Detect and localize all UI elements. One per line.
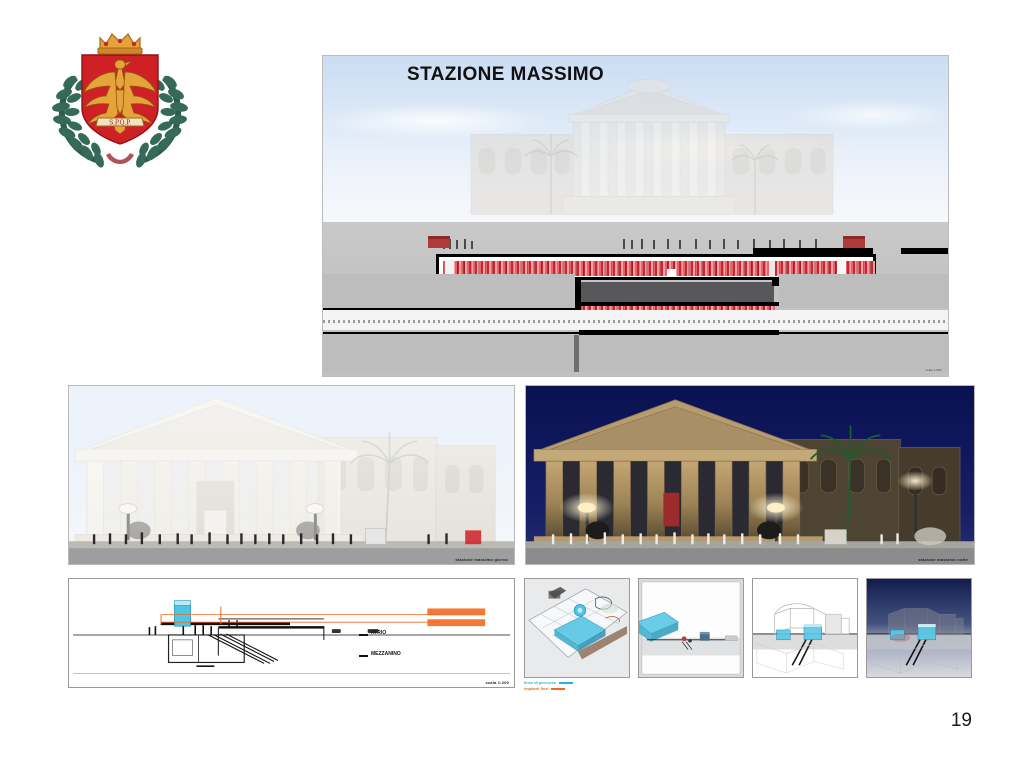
- montage-longitudinal-section: scala 1:500 STAZIONE MASSIMO: [322, 55, 949, 377]
- view-3d-2-graphic: [639, 579, 743, 677]
- view-3d-axonometric-detail: [638, 578, 744, 678]
- legend-swatch-0: [559, 682, 573, 684]
- view-3d-scheme-day: stazione spaziale giorno: [752, 578, 858, 678]
- slab-structure: [579, 282, 774, 304]
- view-3d-4-graphic: [867, 579, 971, 677]
- render-day-graphic: [69, 386, 514, 564]
- legend-label-1: impianti fissi: [524, 686, 548, 692]
- shaft-wall-right: [772, 280, 779, 286]
- ground-mass-left: [323, 274, 575, 308]
- track-dash: [323, 320, 948, 323]
- legend-swatch-1: [551, 688, 565, 690]
- montage-title: STAZIONE MASSIMO: [407, 64, 604, 86]
- render-day-caption: stazione massimo giorno: [455, 557, 508, 562]
- page-number: 19: [951, 710, 972, 732]
- view-3d-axonometric-overview: [524, 578, 630, 678]
- render-night: stazione massimo notte: [525, 385, 975, 565]
- views-3d-legend: linee di percorso impianti fissi: [524, 680, 630, 692]
- sub-mass-right: [579, 335, 948, 372]
- level-label-atrio: ATRIO: [371, 630, 386, 636]
- platform-ceiling: [579, 302, 779, 306]
- track-line-3: [779, 332, 948, 334]
- render-day: stazione massimo giorno: [68, 385, 515, 565]
- view-3d-1-graphic: [525, 579, 629, 677]
- view-3d-scheme-night: stazione massimo notte: [866, 578, 972, 678]
- technical-drawing-graphic: [69, 579, 514, 687]
- legend-row-1: impianti fissi: [524, 686, 630, 692]
- sub-mass-left: [323, 335, 575, 372]
- palermo-coat-of-arms-icon: S.P.Q.P.: [40, 22, 200, 182]
- level-label-mezzanino: MEZZANINO: [371, 651, 401, 657]
- view-3d-3-graphic: [753, 579, 857, 677]
- section-band-top-2: [901, 248, 949, 254]
- technical-drawing-scale-note: scala 1:200: [485, 680, 509, 685]
- level-tick-atrio: [359, 634, 368, 636]
- ground-mass-right: [779, 274, 948, 308]
- render-night-graphic: [526, 386, 974, 564]
- section-overlay: scala 1:500: [323, 216, 948, 376]
- render-night-caption: stazione massimo notte: [918, 557, 968, 562]
- montage-scale-note: scala 1:500: [926, 368, 942, 372]
- slide-canvas: S.P.Q.P.: [0, 0, 1024, 768]
- svg-text:S.P.Q.P.: S.P.Q.P.: [109, 120, 131, 127]
- track-line-2: [323, 332, 579, 334]
- level-tick-mezzanino: [359, 655, 368, 657]
- technical-section-drawing: ATRIO MEZZANINO scala 1:200: [68, 578, 515, 688]
- sub-divider: [574, 335, 579, 372]
